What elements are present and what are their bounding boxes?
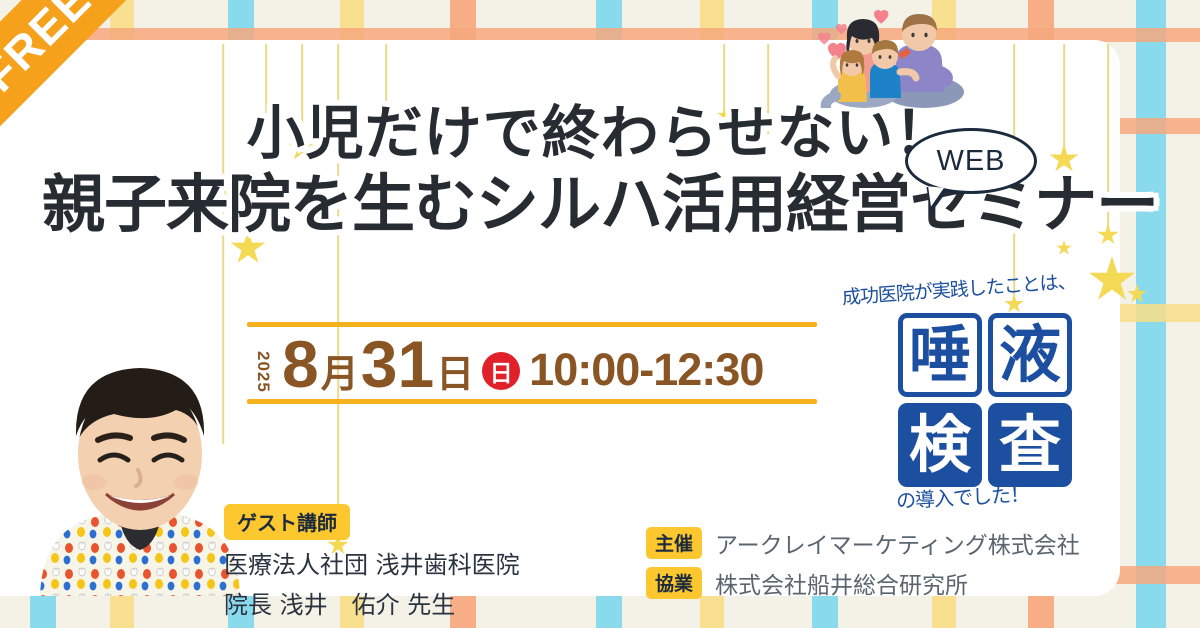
kanji-cell-2: 液 — [988, 313, 1072, 397]
organizer-row: 協業 株式会社船井総合研究所 — [646, 566, 1080, 600]
hanging-star-decoration — [1056, 240, 1072, 266]
organizer-badge-host: 主催 — [646, 527, 702, 559]
date-month-number: 8 — [282, 333, 319, 396]
guest-speaker-badge: ゲスト講師 — [224, 504, 350, 540]
date-day-of-week-badge: 日 — [482, 352, 520, 390]
organizer-name-partner: 株式会社船井総合研究所 — [715, 566, 968, 600]
saliva-test-logo: 成功医院が実践したことは、 唾 液 検 査 の導入でした！ — [836, 283, 1126, 515]
kanji-cell-4: 査 — [988, 403, 1072, 487]
date-month-unit: 月 — [321, 355, 359, 393]
web-badge-oval: WEB — [905, 128, 1037, 194]
web-badge-label: WEB — [936, 145, 1005, 178]
family-illustration — [800, 0, 975, 108]
guest-speaker-block: ゲスト講師 医療法人社団 浅井歯科医院 院長 浅井 佑介 先生 — [224, 504, 520, 620]
kanji-cell-1: 唾 — [898, 313, 982, 397]
hanging-star-decoration — [1126, 284, 1148, 314]
web-badge: WEB — [905, 128, 1037, 194]
free-ribbon-label: FREE — [0, 0, 102, 102]
date-row: 2025 8 月 31 日 日 10:00-12:30 — [247, 327, 817, 399]
guest-speaker-name: 院長 浅井 佑介 先生 — [224, 585, 520, 620]
saliva-kanji-grid: 唾 液 検 査 — [898, 313, 1072, 487]
organizer-row: 主催 アークレイマーケティング株式会社 — [646, 526, 1080, 560]
date-rule-bottom — [247, 399, 817, 404]
date-day-unit: 日 — [436, 355, 474, 393]
organizer-name-host: アークレイマーケティング株式会社 — [715, 526, 1080, 560]
free-ribbon-band: FREE — [0, 0, 180, 180]
speech-bubble-tail-inner-icon — [926, 186, 944, 208]
kanji-cell-3: 検 — [898, 403, 982, 487]
date-time: 10:00-12:30 — [529, 347, 763, 392]
date-year: 2025 — [255, 351, 272, 393]
date-block: 2025 8 月 31 日 日 10:00-12:30 — [247, 322, 817, 404]
organizer-badge-partner: 協業 — [646, 567, 702, 599]
organizer-block: 主催 アークレイマーケティング株式会社 協業 株式会社船井総合研究所 — [646, 526, 1080, 606]
guest-speaker-clinic: 医療法人社団 浅井歯科医院 — [224, 545, 520, 580]
guest-speaker-photo — [36, 358, 244, 596]
date-day-number: 31 — [361, 333, 434, 396]
free-ribbon: FREE — [0, 0, 162, 162]
